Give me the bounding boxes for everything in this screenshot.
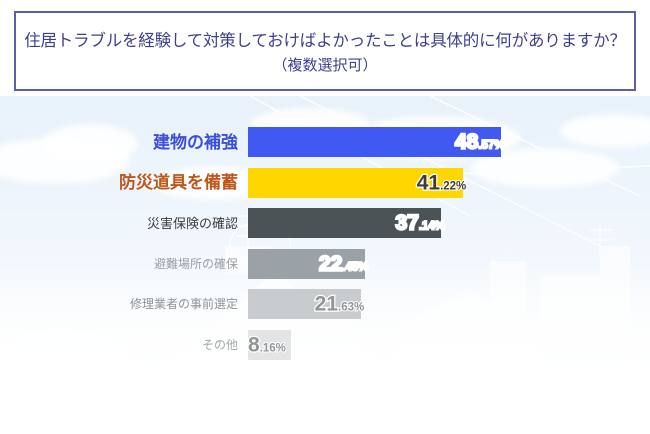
footer: ≪調査概要:大雨・台風による住居トラブル≫ ・調査期間:2023年11月30日〜… — [0, 379, 650, 434]
chart-bar-row: 避難場所の確保22.45% — [0, 247, 650, 281]
bar-value-label: 48.57% — [455, 132, 505, 153]
infographic-page: 住居トラブルを経験して対策しておけばよかったことは具体的に何がありますか？ （複… — [0, 0, 650, 434]
bar-value-integer: 8 — [248, 333, 260, 356]
bar-value-integer: 48 — [455, 131, 478, 154]
bar-track: 8.16% — [248, 328, 650, 362]
bar-value-integer: 41 — [417, 171, 440, 194]
chart-bar-row: その他8.16% — [0, 328, 650, 362]
bar-category-label: その他 — [0, 339, 248, 351]
bar-category-label: 建物の補強 — [0, 134, 248, 151]
bar-value-label: 41.22% — [417, 172, 467, 193]
bar-track: 21.63% — [248, 287, 650, 321]
bar-value-label: 8.16% — [248, 334, 286, 355]
bar-value-label: 22.45% — [319, 253, 369, 274]
bar-value-decimal: .14% — [419, 221, 445, 233]
bar-category-label: 修理業者の事前選定 — [0, 298, 248, 310]
bar-track: 37.14% — [248, 206, 650, 240]
bar-value-decimal: .45% — [342, 261, 368, 273]
bar-value-label: 21.63% — [315, 294, 365, 315]
page-subtitle: （複数選択可） — [272, 54, 377, 75]
bar-track: 48.57% — [248, 125, 650, 159]
bar-value-decimal: .63% — [338, 302, 364, 314]
bar-value-integer: 21 — [315, 293, 338, 316]
question-title-box: 住居トラブルを経験して対策しておけばよかったことは具体的に何がありますか？ （複… — [14, 11, 636, 91]
bar-category-label: 避難場所の確保 — [0, 258, 248, 270]
bar-chart: 建物の補強48.57%防災道具を備蓄41.22%災害保険の確認37.14%避難場… — [0, 118, 650, 363]
bar-value-label: 37.14% — [395, 213, 445, 234]
bar-value-decimal: .57% — [478, 140, 504, 152]
bar-value-decimal: .22% — [440, 180, 466, 192]
bar-track: 41.22% — [248, 166, 650, 200]
chart-bar-row: 修理業者の事前選定21.63% — [0, 287, 650, 321]
page-title: 住居トラブルを経験して対策しておけばよかったことは具体的に何がありますか？ — [24, 27, 626, 51]
bar-track: 22.45% — [248, 247, 650, 281]
bar-category-label: 災害保険の確認 — [0, 217, 248, 230]
bar-value-integer: 37 — [395, 212, 418, 235]
chart-bar-row: 防災道具を備蓄41.22% — [0, 166, 650, 200]
bar-category-label: 防災道具を備蓄 — [0, 174, 248, 191]
chart-bar-row: 災害保険の確認37.14% — [0, 206, 650, 240]
bar-value-integer: 22 — [319, 252, 342, 275]
chart-bar-row: 建物の補強48.57% — [0, 125, 650, 159]
bar-value-decimal: .16% — [260, 342, 286, 354]
